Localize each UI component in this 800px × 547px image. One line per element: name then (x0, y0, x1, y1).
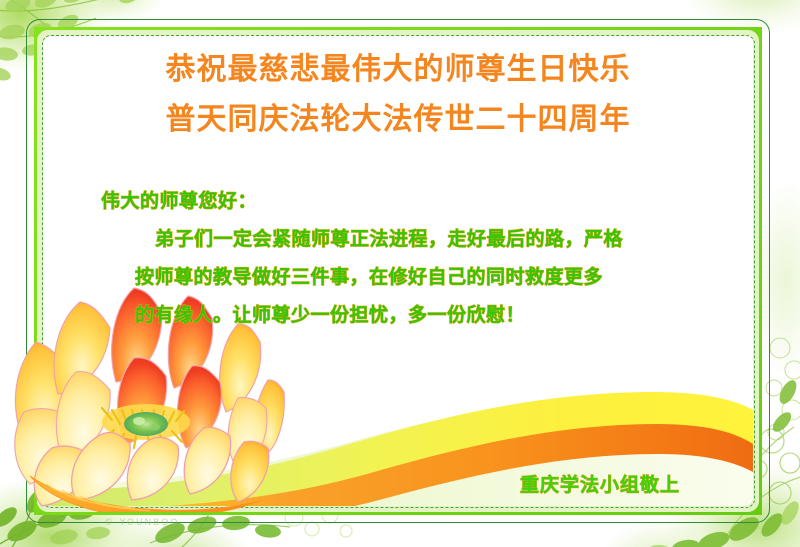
body-block: 伟大的师尊您好： 弟子们一定会紧随师尊正法进程，走好最后的路，严格 按师尊的教导… (43, 182, 753, 334)
body-line-3: 的有缘人。让师尊少一份担忧，多一份欣慰！ (43, 296, 753, 334)
body-line-1: 弟子们一定会紧随师尊正法进程，走好最后的路，严格 (43, 220, 753, 258)
watermark-text: © YOUNBOO (104, 518, 179, 528)
title-line-2: 普天同庆法轮大法传世二十四周年 (43, 98, 753, 142)
greeting-card: 恭祝最慈悲最伟大的师尊生日快乐 普天同庆法轮大法传世二十四周年 伟大的师尊您好：… (0, 0, 800, 547)
signature-text: 重庆学法小组敬上 (520, 470, 680, 497)
title-line-1: 恭祝最慈悲最伟大的师尊生日快乐 (43, 48, 753, 92)
body-line-2: 按师尊的教导做好三件事，在修好自己的同时救度更多 (43, 258, 753, 296)
body-greeting: 伟大的师尊您好： (43, 182, 753, 220)
title-block: 恭祝最慈悲最伟大的师尊生日快乐 普天同庆法轮大法传世二十四周年 (43, 48, 753, 142)
